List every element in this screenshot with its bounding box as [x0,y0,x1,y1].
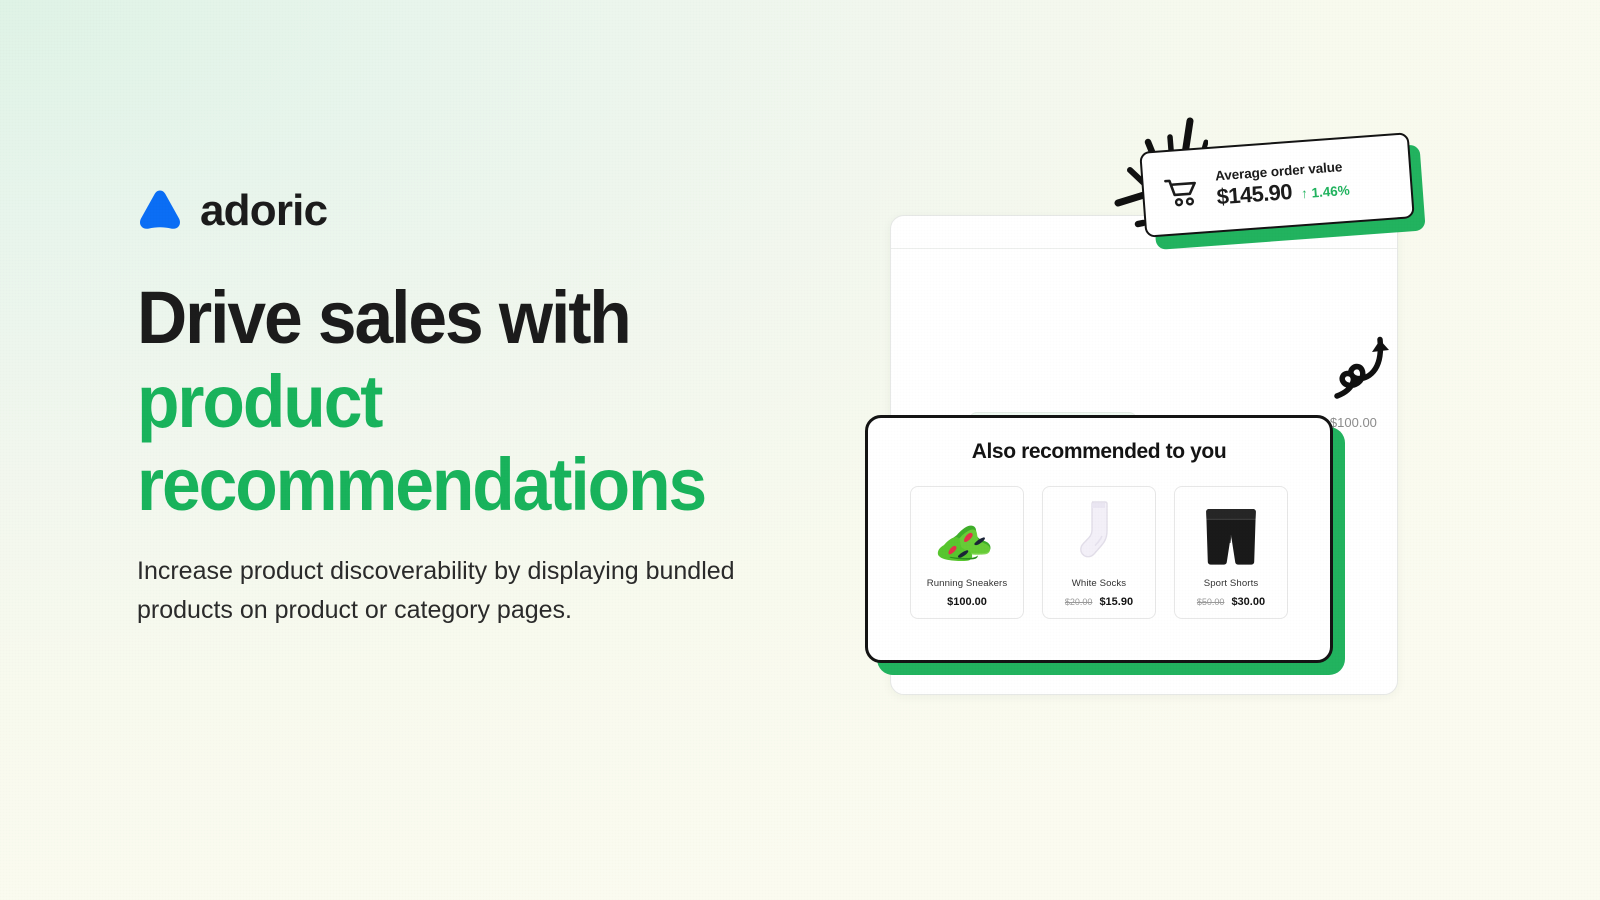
window-header-divider [891,248,1397,249]
recommendation-old-price: $50.00 [1197,597,1225,607]
shopping-cart-icon [1163,176,1199,208]
recommendation-name: White Socks [1072,578,1126,589]
black-sport-shorts-icon [1200,505,1262,571]
recommendation-old-price: $20.00 [1065,597,1093,607]
recommendation-price: $15.90 [1099,596,1133,608]
brand-name: adoric [200,189,327,233]
metric-delta-badge: ↑ 1.46% [1300,183,1350,202]
recommendation-tile-shorts[interactable]: Sport Shorts $50.00 $30.00 [1174,486,1288,619]
headline-line-2: product [137,360,795,444]
hero-left-column: adoric Drive sales with product recommen… [137,0,837,900]
recommendation-tile-socks[interactable]: White Socks $20.00 $15.90 [1042,486,1156,619]
brand-logo[interactable]: adoric [137,188,327,233]
white-sock-icon [1077,499,1121,571]
recommendation-name: Sport Shorts [1204,578,1259,589]
green-running-sneakers-icon [928,515,1006,571]
recommendations-widget: Also recommended to you [865,415,1345,670]
recommendations-grid: Running Sneakers $100.00 White Socks [890,486,1308,619]
sock-thumbnail [1077,493,1121,571]
recommendation-price: $30.00 [1231,596,1265,608]
average-order-value-card: Average order value $145.90 ↑ 1.46% [1139,132,1415,238]
triangle-logo-icon [137,188,183,233]
recommendation-name: Running Sneakers [927,578,1008,589]
page-title: Drive sales with product recommendations [137,276,795,527]
curly-arrow-up-icon [1330,268,1460,428]
page-subtitle: Increase product discoverability by disp… [137,552,757,630]
sneakers-thumbnail [928,493,1006,571]
shorts-thumbnail [1200,493,1262,571]
recommendation-price: $100.00 [947,596,987,608]
recommendation-tile-sneakers[interactable]: Running Sneakers $100.00 [910,486,1024,619]
metric-value: $145.90 [1216,179,1293,210]
recommendations-title: Also recommended to you [890,440,1308,464]
product-recommendation-illustration: Running Sneakers $100.00 Add to cart [860,90,1480,710]
headline-line-1: Drive sales with [137,276,630,359]
headline-line-3: recommendations [137,443,795,527]
